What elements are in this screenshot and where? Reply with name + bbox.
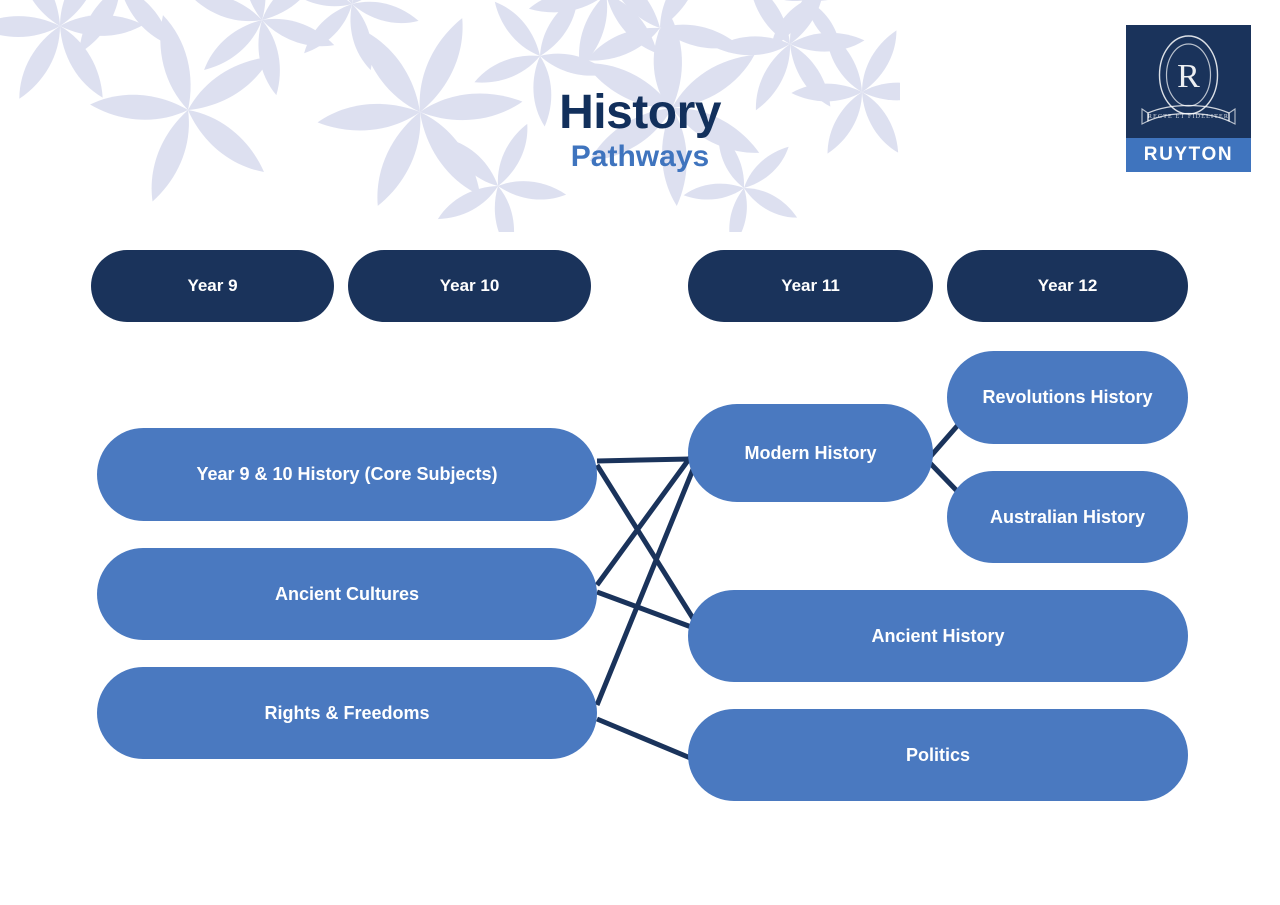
connector-modern-history-to-revolutions-history [930, 425, 958, 457]
subject-node-label: Politics [888, 745, 988, 766]
connector-modern-history-to-australian-history [930, 463, 958, 492]
subject-node-rights-freedoms[interactable]: Rights & Freedoms [97, 667, 597, 759]
connector-core-to-modern-history [597, 459, 690, 461]
connector-ancient-cultures-to-ancient-history [597, 592, 694, 628]
page-title: History [0, 88, 1280, 138]
connector-core-to-ancient-history [597, 465, 694, 620]
crest-motto: RECTE ET FIDELITER [1148, 114, 1229, 120]
connector-ancient-cultures-to-modern-history [597, 455, 692, 585]
subject-node-modern-history[interactable]: Modern History [688, 404, 933, 502]
year-header-year-10[interactable]: Year 10 [348, 250, 591, 322]
subject-node-label: Rights & Freedoms [246, 703, 447, 724]
year-header-year-11[interactable]: Year 11 [688, 250, 933, 322]
title-block: History Pathways [0, 88, 1280, 175]
svg-text:R: R [1177, 58, 1200, 95]
connector-rights-freedoms-to-modern-history [597, 462, 696, 705]
subject-node-australian-history[interactable]: Australian History [947, 471, 1188, 563]
subject-node-revolutions-history[interactable]: Revolutions History [947, 351, 1188, 444]
ruyton-logo: R RECTE ET FIDELITER RUYTON [1126, 25, 1251, 175]
subject-node-label: Ancient Cultures [257, 584, 437, 605]
page-subtitle: Pathways [0, 140, 1280, 175]
year-header-year-12[interactable]: Year 12 [947, 250, 1188, 322]
school-crest: R RECTE ET FIDELITER [1126, 25, 1251, 138]
subject-node-core[interactable]: Year 9 & 10 History (Core Subjects) [97, 428, 597, 521]
subject-node-label: Revolutions History [964, 387, 1170, 408]
subject-node-label: Australian History [972, 507, 1163, 528]
subject-node-ancient-history[interactable]: Ancient History [688, 590, 1188, 682]
subject-node-label: Modern History [726, 443, 894, 464]
subject-node-ancient-cultures[interactable]: Ancient Cultures [97, 548, 597, 640]
subject-node-politics[interactable]: Politics [688, 709, 1188, 801]
year-header-year-9[interactable]: Year 9 [91, 250, 334, 322]
subject-node-label: Year 9 & 10 History (Core Subjects) [178, 464, 515, 485]
connector-rights-freedoms-to-politics [597, 719, 700, 762]
logo-wordmark: RUYTON [1126, 138, 1251, 172]
subject-node-label: Ancient History [853, 626, 1022, 647]
crest-icon: R RECTE ET FIDELITER [1126, 25, 1251, 138]
